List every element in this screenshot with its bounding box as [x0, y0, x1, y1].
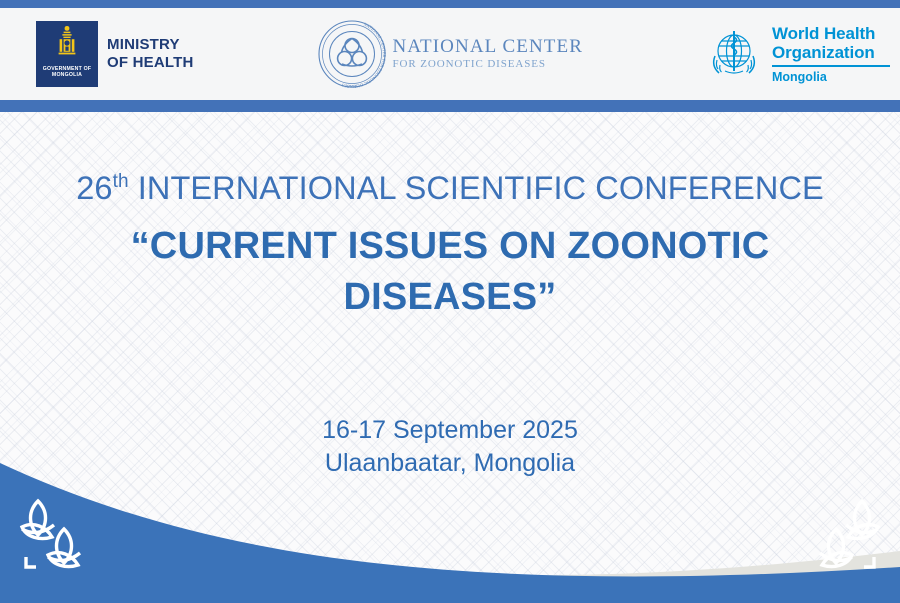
national-center-line1: NATIONAL CENTER — [393, 37, 583, 57]
biohazard-seal-icon: 1951 NATIONAL CENTER FOR ZOONOTIC DISEAS… — [316, 18, 388, 90]
national-center-line2: FOR ZOONOTIC DISEASES — [393, 57, 583, 71]
who-logo: World Health Organization Mongolia — [703, 24, 890, 84]
conference-title-rest: INTERNATIONAL SCIENTIFIC CONFERENCE — [129, 170, 824, 206]
triquetra-knot-ornament-icon — [820, 501, 878, 567]
who-country-label: Mongolia — [772, 70, 890, 84]
corner-ornament-left — [14, 495, 102, 573]
conference-title-slide: GOVERNMENT OF MONGOLIA MINISTRY OF HEALT… — [0, 0, 900, 603]
conference-ordinal-suffix: th — [113, 171, 129, 192]
who-emblem-icon — [703, 25, 765, 83]
conference-theme-line2: DISEASES” — [0, 272, 900, 323]
conference-number: 26 — [76, 170, 112, 206]
who-line1: World Health — [772, 24, 890, 43]
ministry-of-health-label: MINISTRY OF HEALTH — [107, 36, 194, 73]
conference-theme-line1: “CURRENT ISSUES ON ZOONOTIC — [0, 221, 900, 272]
logo-row: GOVERNMENT OF MONGOLIA MINISTRY OF HEALT… — [0, 8, 900, 100]
mongolia-government-crest: GOVERNMENT OF MONGOLIA — [36, 21, 98, 87]
footer-wave-decoration — [0, 433, 900, 603]
soyombo-emblem-icon — [52, 24, 82, 64]
crest-caption: GOVERNMENT OF MONGOLIA — [43, 66, 91, 79]
conference-theme-title: “CURRENT ISSUES ON ZOONOTIC DISEASES” — [0, 221, 900, 323]
top-accent-strip — [0, 0, 900, 8]
national-center-label: NATIONAL CENTER FOR ZOONOTIC DISEASES — [393, 37, 583, 71]
who-label: World Health Organization Mongolia — [772, 24, 890, 84]
title-block: 26th INTERNATIONAL SCIENTIFIC CONFERENCE… — [0, 168, 900, 323]
conference-title-line: 26th INTERNATIONAL SCIENTIFIC CONFERENCE — [0, 168, 900, 208]
who-divider-rule — [772, 65, 890, 67]
triquetra-knot-ornament-icon — [22, 501, 80, 567]
header-divider-bar — [0, 100, 900, 112]
footer-wave-band — [0, 463, 900, 603]
national-center-logo: 1951 NATIONAL CENTER FOR ZOONOTIC DISEAS… — [316, 18, 583, 90]
ministry-of-health-logo: GOVERNMENT OF MONGOLIA MINISTRY OF HEALT… — [36, 21, 194, 87]
who-line2: Organization — [772, 43, 890, 62]
corner-ornament-right — [798, 495, 886, 573]
